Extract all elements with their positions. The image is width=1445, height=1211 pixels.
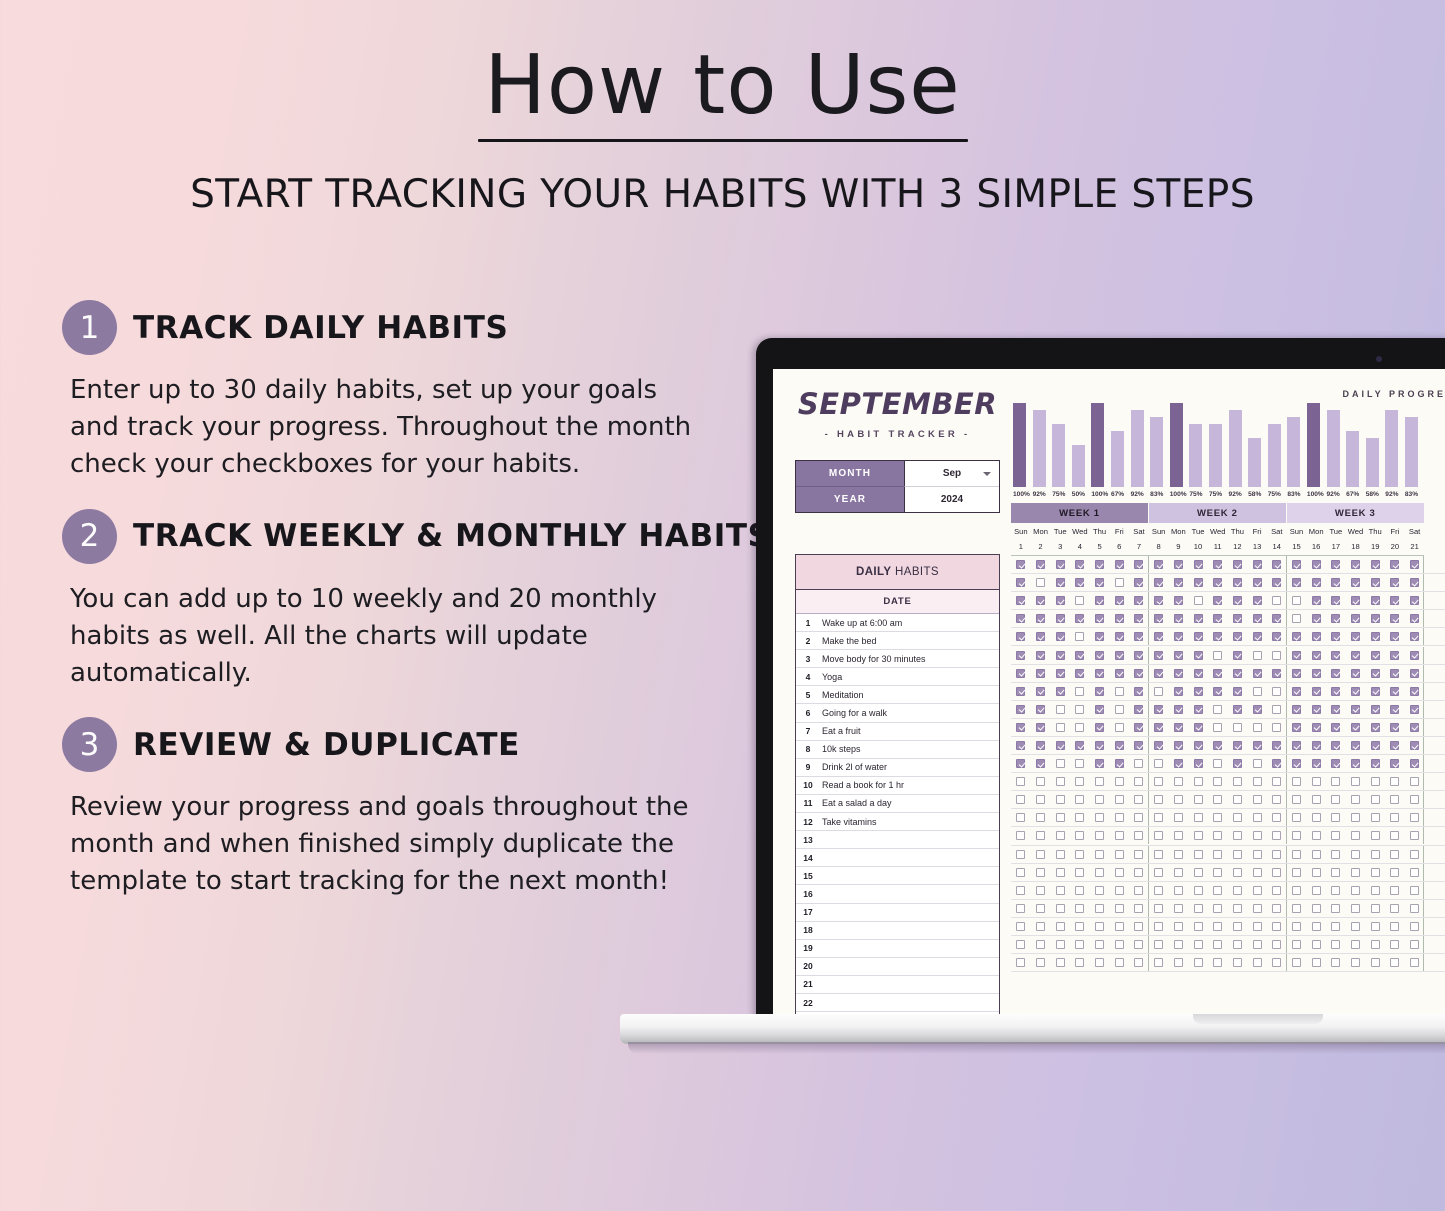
habit-checkbox[interactable]	[1050, 614, 1070, 623]
habit-checkbox[interactable]	[1228, 651, 1248, 660]
habit-checkbox[interactable]	[1346, 705, 1366, 714]
habit-row[interactable]: 2Make the bed	[796, 632, 999, 650]
habit-checkbox[interactable]	[1031, 687, 1051, 696]
habit-checkbox[interactable]	[1247, 669, 1267, 678]
habit-checkbox[interactable]	[1287, 741, 1307, 750]
habit-checkbox[interactable]	[1188, 777, 1208, 786]
habit-checkbox[interactable]	[1129, 614, 1149, 623]
habit-checkbox[interactable]	[1011, 777, 1031, 786]
habit-checkbox[interactable]	[1109, 651, 1129, 660]
habit-checkbox[interactable]	[1346, 831, 1366, 840]
habit-checkbox[interactable]	[1031, 904, 1051, 913]
habit-checkbox[interactable]	[1385, 922, 1405, 931]
habit-checkbox[interactable]	[1306, 723, 1326, 732]
habit-checkbox[interactable]	[1385, 795, 1405, 804]
habit-checkbox[interactable]	[1011, 886, 1031, 895]
month-select[interactable]: Sep	[904, 461, 999, 487]
habit-checkbox[interactable]	[1031, 578, 1051, 587]
habit-checkbox[interactable]	[1188, 705, 1208, 714]
habit-checkbox[interactable]	[1346, 596, 1366, 605]
habit-checkbox[interactable]	[1188, 651, 1208, 660]
habit-checkbox[interactable]	[1208, 831, 1228, 840]
habit-checkbox[interactable]	[1365, 795, 1385, 804]
habit-checkbox[interactable]	[1405, 958, 1425, 967]
habit-checkbox[interactable]	[1326, 759, 1346, 768]
habit-checkbox[interactable]	[1228, 669, 1248, 678]
habit-checkbox[interactable]	[1188, 795, 1208, 804]
habit-checkbox[interactable]	[1306, 850, 1326, 859]
habit-checkbox[interactable]	[1050, 578, 1070, 587]
habit-checkbox[interactable]	[1050, 560, 1070, 569]
habit-checkbox[interactable]	[1267, 723, 1287, 732]
habit-checkbox[interactable]	[1050, 632, 1070, 641]
habit-name[interactable]: Drink 2l of water	[820, 762, 887, 772]
habit-checkbox[interactable]	[1326, 632, 1346, 641]
habit-checkbox[interactable]	[1306, 958, 1326, 967]
habit-row[interactable]: 15	[796, 867, 999, 885]
habit-checkbox[interactable]	[1405, 687, 1425, 696]
habit-checkbox[interactable]	[1346, 614, 1366, 623]
habit-checkbox[interactable]	[1188, 560, 1208, 569]
habit-checkbox[interactable]	[1365, 813, 1385, 822]
habit-checkbox[interactable]	[1287, 723, 1307, 732]
habit-checkbox[interactable]	[1149, 868, 1169, 877]
habit-checkbox[interactable]	[1129, 904, 1149, 913]
habit-checkbox[interactable]	[1031, 723, 1051, 732]
habit-checkbox[interactable]	[1326, 868, 1346, 877]
habit-checkbox[interactable]	[1306, 886, 1326, 895]
habit-checkbox[interactable]	[1070, 777, 1090, 786]
habit-checkbox[interactable]	[1109, 850, 1129, 859]
habit-checkbox[interactable]	[1346, 940, 1366, 949]
habit-checkbox[interactable]	[1070, 795, 1090, 804]
habit-checkbox[interactable]	[1011, 850, 1031, 859]
habit-checkbox[interactable]	[1326, 795, 1346, 804]
habit-checkbox[interactable]	[1326, 813, 1346, 822]
habit-checkbox[interactable]	[1149, 705, 1169, 714]
habit-checkbox[interactable]	[1050, 777, 1070, 786]
habit-checkbox[interactable]	[1188, 813, 1208, 822]
habit-checkbox[interactable]	[1346, 723, 1366, 732]
habit-checkbox[interactable]	[1011, 831, 1031, 840]
habit-checkbox[interactable]	[1346, 632, 1366, 641]
habit-checkbox[interactable]	[1247, 868, 1267, 877]
habit-checkbox[interactable]	[1208, 868, 1228, 877]
habit-checkbox[interactable]	[1365, 596, 1385, 605]
habit-checkbox[interactable]	[1247, 632, 1267, 641]
habit-checkbox[interactable]	[1346, 759, 1366, 768]
habit-checkbox[interactable]	[1405, 904, 1425, 913]
habit-checkbox[interactable]	[1385, 578, 1405, 587]
habit-checkbox[interactable]	[1287, 940, 1307, 949]
habit-checkbox[interactable]	[1149, 669, 1169, 678]
habit-checkbox[interactable]	[1306, 560, 1326, 569]
habit-checkbox[interactable]	[1267, 886, 1287, 895]
habit-row[interactable]: 19	[796, 940, 999, 958]
habit-checkbox[interactable]	[1031, 813, 1051, 822]
habit-checkbox[interactable]	[1031, 632, 1051, 641]
habit-checkbox[interactable]	[1109, 741, 1129, 750]
habit-checkbox[interactable]	[1090, 759, 1110, 768]
habit-checkbox[interactable]	[1050, 831, 1070, 840]
habit-checkbox[interactable]	[1169, 705, 1189, 714]
habit-checkbox[interactable]	[1090, 886, 1110, 895]
habit-checkbox[interactable]	[1188, 614, 1208, 623]
habit-checkbox[interactable]	[1326, 578, 1346, 587]
habit-checkbox[interactable]	[1109, 632, 1129, 641]
habit-checkbox[interactable]	[1031, 850, 1051, 859]
habit-checkbox[interactable]	[1090, 850, 1110, 859]
habit-checkbox[interactable]	[1109, 922, 1129, 931]
habit-checkbox[interactable]	[1287, 850, 1307, 859]
habit-checkbox[interactable]	[1050, 868, 1070, 877]
habit-checkbox[interactable]	[1090, 741, 1110, 750]
habit-checkbox[interactable]	[1031, 651, 1051, 660]
habit-checkbox[interactable]	[1326, 922, 1346, 931]
habit-checkbox[interactable]	[1070, 669, 1090, 678]
habit-checkbox[interactable]	[1188, 886, 1208, 895]
habit-checkbox[interactable]	[1385, 669, 1405, 678]
habit-checkbox[interactable]	[1247, 578, 1267, 587]
habit-row[interactable]: 21	[796, 976, 999, 994]
habit-checkbox[interactable]	[1050, 922, 1070, 931]
habit-checkbox[interactable]	[1031, 940, 1051, 949]
habit-checkbox[interactable]	[1287, 596, 1307, 605]
habit-row[interactable]: 14	[796, 849, 999, 867]
habit-checkbox[interactable]	[1346, 868, 1366, 877]
habit-checkbox[interactable]	[1129, 777, 1149, 786]
habit-checkbox[interactable]	[1247, 940, 1267, 949]
habit-checkbox[interactable]	[1149, 940, 1169, 949]
habit-checkbox[interactable]	[1031, 705, 1051, 714]
habit-checkbox[interactable]	[1405, 632, 1425, 641]
habit-checkbox[interactable]	[1228, 904, 1248, 913]
habit-checkbox[interactable]	[1247, 958, 1267, 967]
habit-checkbox[interactable]	[1031, 759, 1051, 768]
habit-row[interactable]: 10Read a book for 1 hr	[796, 777, 999, 795]
habit-checkbox[interactable]	[1306, 940, 1326, 949]
habit-checkbox[interactable]	[1031, 596, 1051, 605]
habit-checkbox[interactable]	[1129, 596, 1149, 605]
habit-checkbox[interactable]	[1247, 795, 1267, 804]
habit-checkbox[interactable]	[1208, 850, 1228, 859]
habit-checkbox[interactable]	[1169, 560, 1189, 569]
habit-checkbox[interactable]	[1169, 614, 1189, 623]
habit-checkbox[interactable]	[1090, 868, 1110, 877]
habit-checkbox[interactable]	[1365, 687, 1385, 696]
habit-checkbox[interactable]	[1011, 669, 1031, 678]
habit-checkbox[interactable]	[1228, 886, 1248, 895]
habit-checkbox[interactable]	[1247, 850, 1267, 859]
habit-row[interactable]: 9Drink 2l of water	[796, 759, 999, 777]
habit-checkbox[interactable]	[1011, 922, 1031, 931]
habit-checkbox[interactable]	[1109, 560, 1129, 569]
habit-checkbox[interactable]	[1365, 922, 1385, 931]
habit-checkbox[interactable]	[1365, 578, 1385, 587]
habit-checkbox[interactable]	[1267, 940, 1287, 949]
habit-checkbox[interactable]	[1031, 958, 1051, 967]
habit-checkbox[interactable]	[1031, 741, 1051, 750]
habit-checkbox[interactable]	[1228, 940, 1248, 949]
habit-checkbox[interactable]	[1031, 886, 1051, 895]
habit-checkbox[interactable]	[1385, 831, 1405, 840]
habit-checkbox[interactable]	[1070, 614, 1090, 623]
habit-checkbox[interactable]	[1346, 687, 1366, 696]
habit-checkbox[interactable]	[1149, 813, 1169, 822]
habit-checkbox[interactable]	[1346, 922, 1366, 931]
habit-name[interactable]: Eat a salad a day	[820, 798, 892, 808]
habit-checkbox[interactable]	[1365, 632, 1385, 641]
habit-checkbox[interactable]	[1169, 651, 1189, 660]
habit-checkbox[interactable]	[1267, 614, 1287, 623]
habit-checkbox[interactable]	[1405, 705, 1425, 714]
habit-checkbox[interactable]	[1267, 777, 1287, 786]
habit-checkbox[interactable]	[1287, 560, 1307, 569]
habit-checkbox[interactable]	[1346, 795, 1366, 804]
habit-checkbox[interactable]	[1090, 831, 1110, 840]
habit-checkbox[interactable]	[1149, 922, 1169, 931]
habit-checkbox[interactable]	[1050, 741, 1070, 750]
habit-row[interactable]: 20	[796, 958, 999, 976]
habit-checkbox[interactable]	[1306, 777, 1326, 786]
habit-checkbox[interactable]	[1011, 578, 1031, 587]
habit-row[interactable]: 13	[796, 831, 999, 849]
habit-checkbox[interactable]	[1208, 904, 1228, 913]
habit-checkbox[interactable]	[1365, 958, 1385, 967]
habit-checkbox[interactable]	[1365, 669, 1385, 678]
habit-checkbox[interactable]	[1365, 723, 1385, 732]
habit-checkbox[interactable]	[1365, 777, 1385, 786]
habit-checkbox[interactable]	[1247, 596, 1267, 605]
habit-checkbox[interactable]	[1228, 922, 1248, 931]
habit-checkbox[interactable]	[1267, 578, 1287, 587]
habit-checkbox[interactable]	[1365, 831, 1385, 840]
habit-checkbox[interactable]	[1169, 741, 1189, 750]
habit-checkbox[interactable]	[1306, 651, 1326, 660]
habit-checkbox[interactable]	[1405, 777, 1425, 786]
habit-checkbox[interactable]	[1050, 759, 1070, 768]
habit-checkbox[interactable]	[1365, 850, 1385, 859]
habit-checkbox[interactable]	[1228, 777, 1248, 786]
habit-name[interactable]: Read a book for 1 hr	[820, 780, 904, 790]
habit-checkbox[interactable]	[1208, 922, 1228, 931]
habit-checkbox[interactable]	[1306, 813, 1326, 822]
habit-checkbox[interactable]	[1149, 886, 1169, 895]
habit-checkbox[interactable]	[1050, 687, 1070, 696]
habit-checkbox[interactable]	[1228, 850, 1248, 859]
habit-checkbox[interactable]	[1385, 560, 1405, 569]
habit-checkbox[interactable]	[1385, 777, 1405, 786]
habit-checkbox[interactable]	[1306, 614, 1326, 623]
habit-checkbox[interactable]	[1011, 723, 1031, 732]
habit-row[interactable]: 6Going for a walk	[796, 704, 999, 722]
habit-checkbox[interactable]	[1208, 940, 1228, 949]
habit-checkbox[interactable]	[1208, 795, 1228, 804]
habit-checkbox[interactable]	[1090, 669, 1110, 678]
habit-checkbox[interactable]	[1228, 705, 1248, 714]
habit-checkbox[interactable]	[1031, 868, 1051, 877]
habit-checkbox[interactable]	[1287, 922, 1307, 931]
habit-checkbox[interactable]	[1228, 687, 1248, 696]
habit-checkbox[interactable]	[1188, 759, 1208, 768]
habit-checkbox[interactable]	[1346, 958, 1366, 967]
habit-checkbox[interactable]	[1050, 651, 1070, 660]
habit-checkbox[interactable]	[1050, 886, 1070, 895]
habit-checkbox[interactable]	[1267, 669, 1287, 678]
habit-checkbox[interactable]	[1129, 723, 1149, 732]
habit-checkbox[interactable]	[1090, 777, 1110, 786]
habit-checkbox[interactable]	[1149, 651, 1169, 660]
habit-checkbox[interactable]	[1090, 813, 1110, 822]
habit-checkbox[interactable]	[1287, 886, 1307, 895]
habit-checkbox[interactable]	[1109, 813, 1129, 822]
habit-checkbox[interactable]	[1149, 687, 1169, 696]
habit-checkbox[interactable]	[1306, 868, 1326, 877]
habit-checkbox[interactable]	[1188, 958, 1208, 967]
habit-checkbox[interactable]	[1365, 868, 1385, 877]
habit-checkbox[interactable]	[1109, 777, 1129, 786]
habit-checkbox[interactable]	[1070, 940, 1090, 949]
habit-checkbox[interactable]	[1090, 705, 1110, 714]
habit-checkbox[interactable]	[1385, 632, 1405, 641]
habit-checkbox[interactable]	[1149, 831, 1169, 840]
habit-row[interactable]: 22	[796, 994, 999, 1012]
habit-checkbox[interactable]	[1326, 904, 1346, 913]
habit-checkbox[interactable]	[1365, 759, 1385, 768]
habit-checkbox[interactable]	[1109, 886, 1129, 895]
habit-checkbox[interactable]	[1306, 632, 1326, 641]
habit-checkbox[interactable]	[1405, 850, 1425, 859]
habit-checkbox[interactable]	[1070, 813, 1090, 822]
habit-checkbox[interactable]	[1287, 705, 1307, 714]
habit-checkbox[interactable]	[1267, 632, 1287, 641]
habit-checkbox[interactable]	[1405, 651, 1425, 660]
habit-checkbox[interactable]	[1247, 705, 1267, 714]
habit-checkbox[interactable]	[1326, 705, 1346, 714]
habit-checkbox[interactable]	[1385, 940, 1405, 949]
habit-checkbox[interactable]	[1208, 723, 1228, 732]
habit-checkbox[interactable]	[1267, 904, 1287, 913]
habit-checkbox[interactable]	[1188, 687, 1208, 696]
habit-checkbox[interactable]	[1149, 777, 1169, 786]
habit-checkbox[interactable]	[1090, 904, 1110, 913]
habit-checkbox[interactable]	[1109, 687, 1129, 696]
habit-checkbox[interactable]	[1228, 560, 1248, 569]
habit-checkbox[interactable]	[1326, 651, 1346, 660]
habit-checkbox[interactable]	[1405, 723, 1425, 732]
habit-checkbox[interactable]	[1385, 868, 1405, 877]
habit-checkbox[interactable]	[1228, 596, 1248, 605]
habit-checkbox[interactable]	[1365, 741, 1385, 750]
habit-checkbox[interactable]	[1326, 741, 1346, 750]
habit-checkbox[interactable]	[1346, 813, 1366, 822]
habit-checkbox[interactable]	[1090, 940, 1110, 949]
habit-checkbox[interactable]	[1011, 759, 1031, 768]
habit-checkbox[interactable]	[1326, 831, 1346, 840]
habit-checkbox[interactable]	[1326, 687, 1346, 696]
habit-row[interactable]: 4Yoga	[796, 668, 999, 686]
habit-row[interactable]: 17	[796, 904, 999, 922]
habit-checkbox[interactable]	[1050, 904, 1070, 913]
habit-checkbox[interactable]	[1247, 904, 1267, 913]
habit-checkbox[interactable]	[1149, 904, 1169, 913]
habit-checkbox[interactable]	[1326, 940, 1346, 949]
habit-checkbox[interactable]	[1405, 669, 1425, 678]
habit-checkbox[interactable]	[1365, 940, 1385, 949]
habit-checkbox[interactable]	[1385, 651, 1405, 660]
habit-checkbox[interactable]	[1070, 741, 1090, 750]
habit-checkbox[interactable]	[1169, 723, 1189, 732]
habit-checkbox[interactable]	[1109, 831, 1129, 840]
habit-checkbox[interactable]	[1011, 687, 1031, 696]
habit-checkbox[interactable]	[1169, 831, 1189, 840]
habit-name[interactable]: Eat a fruit	[820, 726, 861, 736]
habit-row[interactable]: 3Move body for 30 minutes	[796, 650, 999, 668]
habit-checkbox[interactable]	[1169, 795, 1189, 804]
habit-checkbox[interactable]	[1247, 777, 1267, 786]
habit-checkbox[interactable]	[1267, 922, 1287, 931]
habit-checkbox[interactable]	[1109, 614, 1129, 623]
habit-checkbox[interactable]	[1267, 687, 1287, 696]
habit-checkbox[interactable]	[1405, 759, 1425, 768]
habit-checkbox[interactable]	[1129, 705, 1149, 714]
habit-checkbox[interactable]	[1149, 759, 1169, 768]
habit-checkbox[interactable]	[1031, 831, 1051, 840]
habit-checkbox[interactable]	[1385, 850, 1405, 859]
habit-checkbox[interactable]	[1070, 886, 1090, 895]
habit-checkbox[interactable]	[1169, 578, 1189, 587]
habit-checkbox[interactable]	[1188, 723, 1208, 732]
habit-checkbox[interactable]	[1109, 958, 1129, 967]
habit-checkbox[interactable]	[1365, 614, 1385, 623]
habit-checkbox[interactable]	[1169, 868, 1189, 877]
habit-checkbox[interactable]	[1011, 904, 1031, 913]
habit-checkbox[interactable]	[1169, 958, 1189, 967]
habit-checkbox[interactable]	[1228, 723, 1248, 732]
habit-checkbox[interactable]	[1385, 723, 1405, 732]
habit-checkbox[interactable]	[1228, 795, 1248, 804]
habit-checkbox[interactable]	[1011, 940, 1031, 949]
habit-checkbox[interactable]	[1405, 922, 1425, 931]
habit-checkbox[interactable]	[1070, 651, 1090, 660]
habit-checkbox[interactable]	[1109, 705, 1129, 714]
habit-checkbox[interactable]	[1090, 795, 1110, 804]
habit-checkbox[interactable]	[1228, 741, 1248, 750]
habit-checkbox[interactable]	[1169, 904, 1189, 913]
habit-checkbox[interactable]	[1208, 741, 1228, 750]
habit-checkbox[interactable]	[1188, 741, 1208, 750]
habit-checkbox[interactable]	[1405, 596, 1425, 605]
habit-checkbox[interactable]	[1287, 777, 1307, 786]
habit-checkbox[interactable]	[1188, 850, 1208, 859]
habit-checkbox[interactable]	[1306, 578, 1326, 587]
habit-name[interactable]: Meditation	[820, 690, 864, 700]
habit-checkbox[interactable]	[1267, 560, 1287, 569]
habit-checkbox[interactable]	[1149, 614, 1169, 623]
habit-checkbox[interactable]	[1267, 705, 1287, 714]
habit-checkbox[interactable]	[1090, 922, 1110, 931]
habit-checkbox[interactable]	[1188, 922, 1208, 931]
habit-checkbox[interactable]	[1090, 651, 1110, 660]
habit-checkbox[interactable]	[1169, 596, 1189, 605]
habit-checkbox[interactable]	[1365, 904, 1385, 913]
habit-name[interactable]: Going for a walk	[820, 708, 887, 718]
habit-checkbox[interactable]	[1050, 958, 1070, 967]
habit-checkbox[interactable]	[1070, 560, 1090, 569]
habit-checkbox[interactable]	[1326, 777, 1346, 786]
habit-checkbox[interactable]	[1149, 958, 1169, 967]
habit-checkbox[interactable]	[1365, 705, 1385, 714]
